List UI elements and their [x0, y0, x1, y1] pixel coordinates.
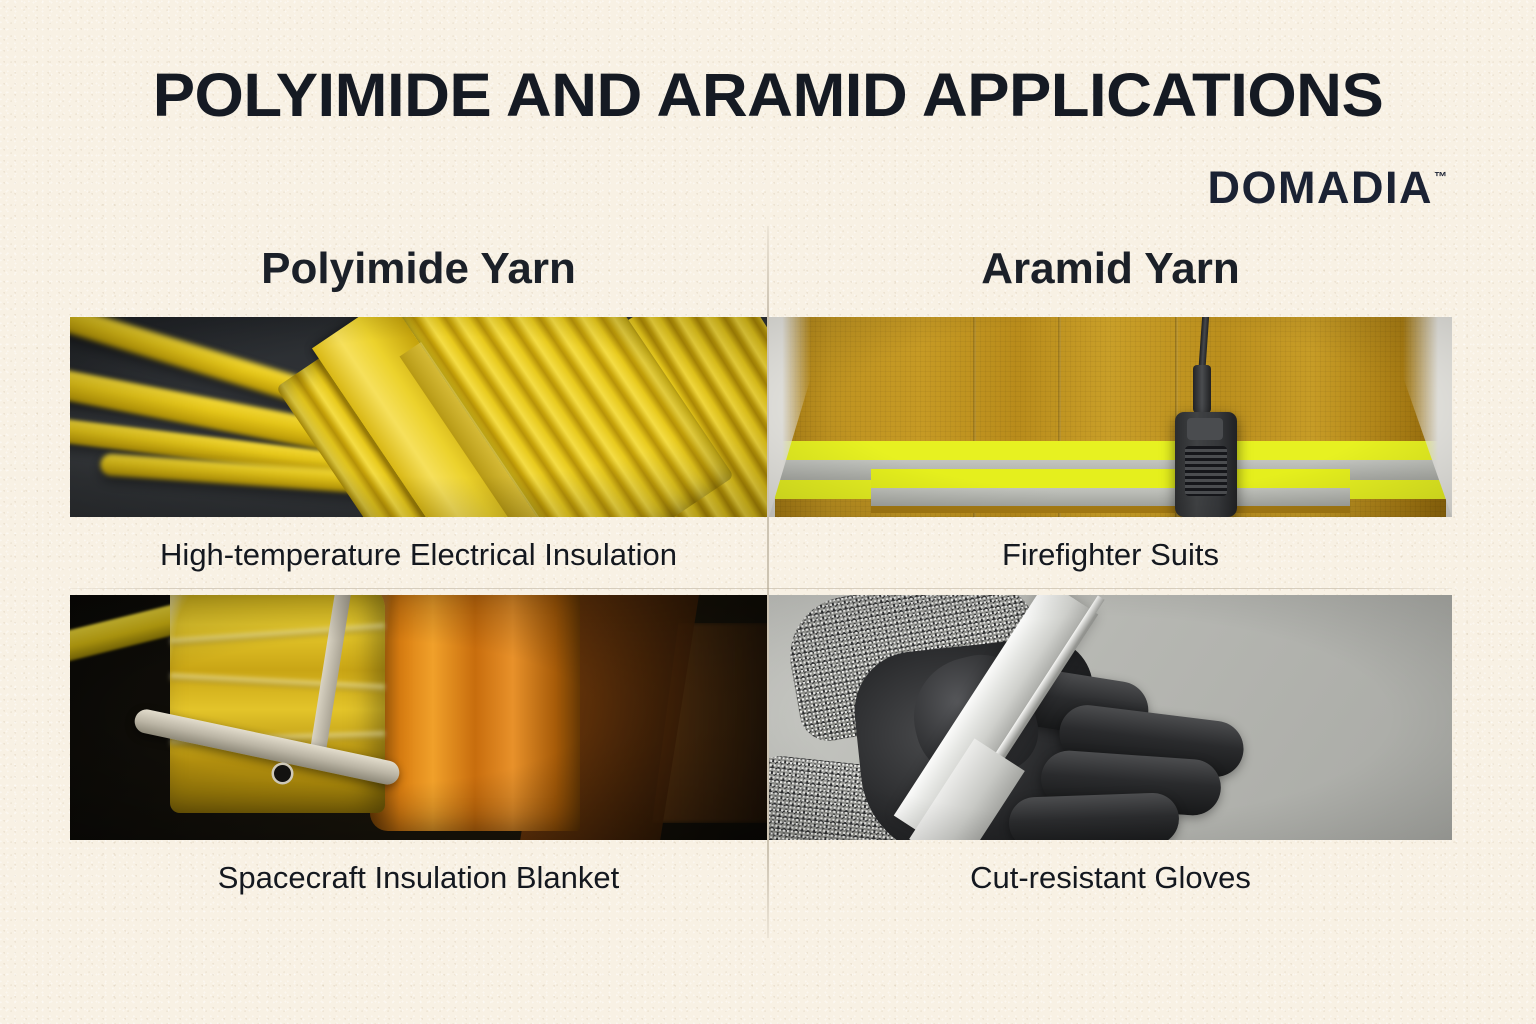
photo-firefighter-suit: [769, 317, 1452, 517]
horizontal-divider: [70, 588, 1452, 589]
caption-spacecraft-blanket: Spacecraft Insulation Blanket: [70, 858, 767, 898]
brand-name: DOMADIA: [1208, 162, 1433, 213]
caption-electrical-insulation: High-temperature Electrical Insulation: [70, 535, 767, 575]
photo-cut-resistant-gloves: [769, 595, 1452, 840]
column-header-aramid: Aramid Yarn: [769, 241, 1452, 297]
photo-vignette: [70, 595, 767, 840]
column-header-polyimide: Polyimide Yarn: [70, 241, 767, 297]
caption-firefighter-suits: Firefighter Suits: [769, 535, 1452, 575]
cell-polyimide-spacecraft: Spacecraft Insulation Blanket: [70, 595, 767, 898]
cell-aramid-firefighter: Firefighter Suits: [769, 317, 1452, 575]
cell-aramid-gloves: Cut-resistant Gloves: [769, 595, 1452, 898]
infographic-page: POLYIMIDE AND ARAMID APPLICATIONS DOMADI…: [0, 0, 1536, 1024]
brand-logo: DOMADIA™: [1208, 158, 1446, 213]
photo-vignette: [769, 595, 1452, 840]
photo-vignette: [769, 317, 1452, 517]
caption-cut-resistant-gloves: Cut-resistant Gloves: [769, 858, 1452, 898]
page-title: POLYIMIDE AND ARAMID APPLICATIONS: [0, 62, 1536, 128]
photo-electrical-insulation: [70, 317, 767, 517]
photo-vignette: [70, 317, 767, 517]
cell-polyimide-insulation: High-temperature Electrical Insulation: [70, 317, 767, 575]
photo-spacecraft-blanket: [70, 595, 767, 840]
trademark-symbol: ™: [1434, 169, 1447, 184]
